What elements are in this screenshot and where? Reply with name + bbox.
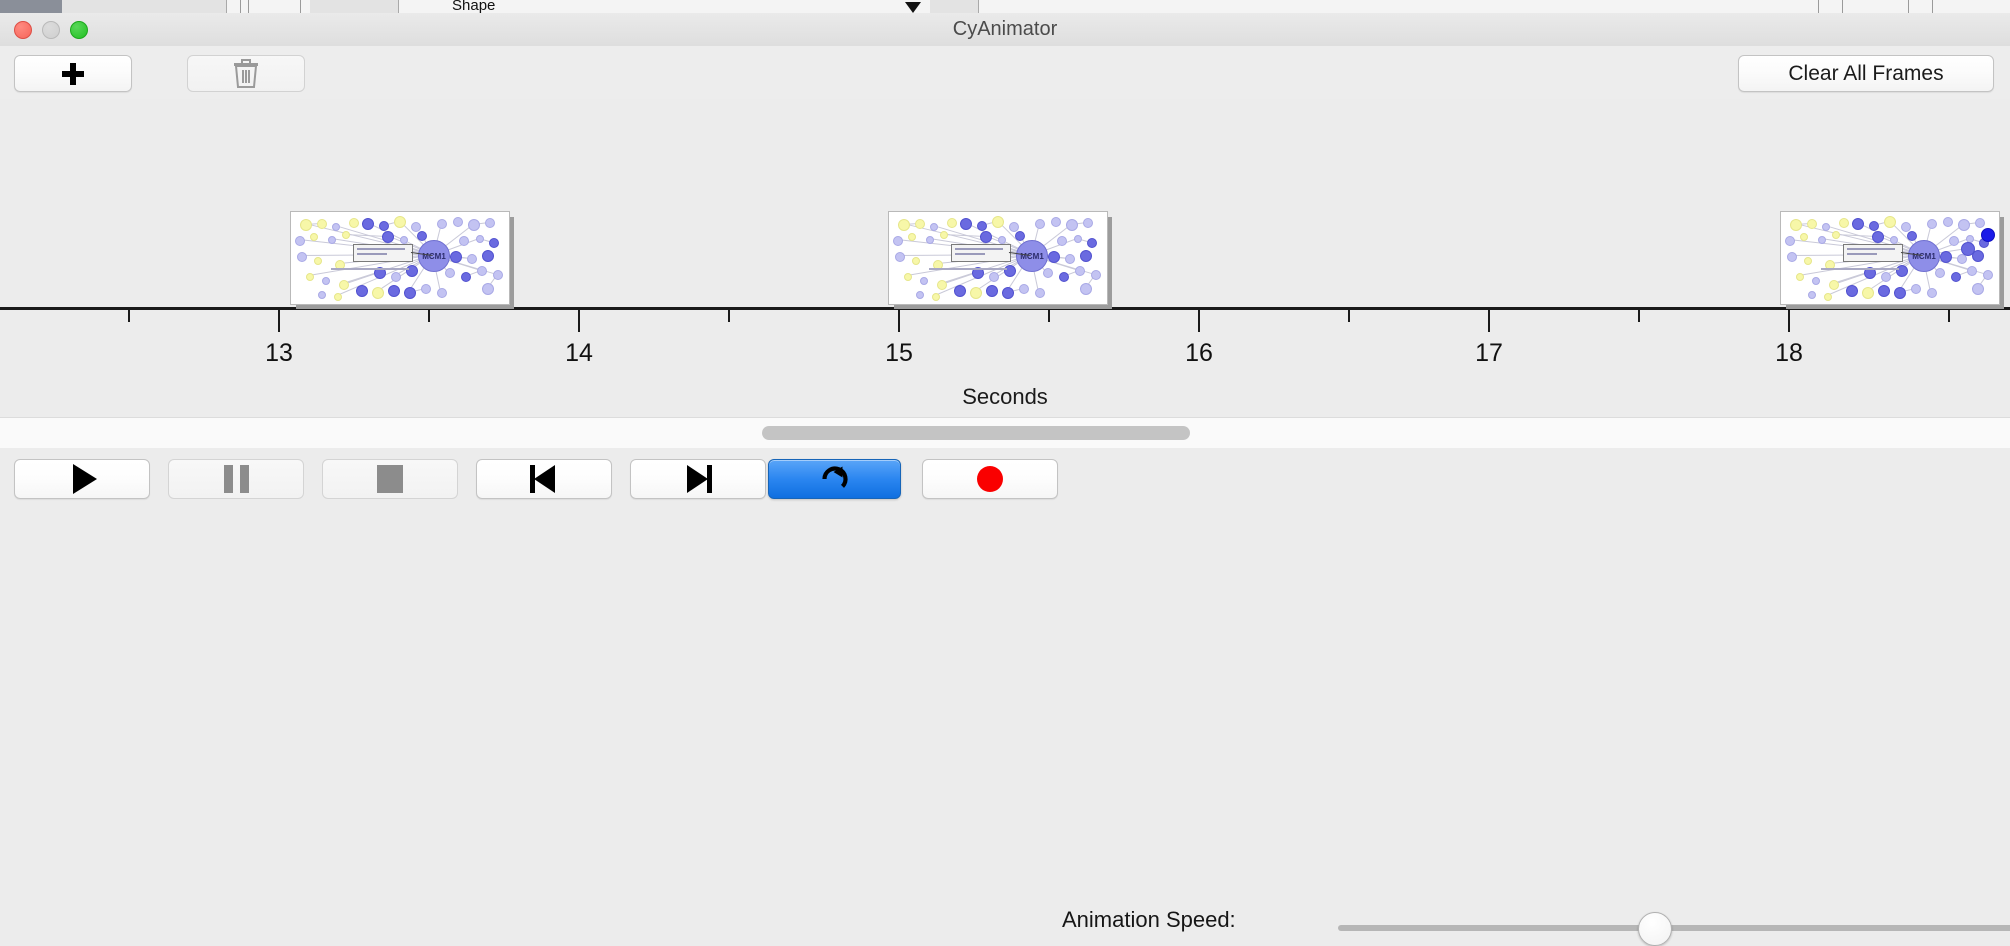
network-node	[1796, 273, 1804, 281]
network-node	[1035, 288, 1045, 298]
network-node	[916, 291, 924, 299]
network-node	[1927, 219, 1937, 229]
network-node	[1911, 284, 1921, 294]
network-node	[1872, 231, 1884, 243]
network-node	[332, 223, 340, 231]
network-node	[1804, 257, 1812, 265]
background-window-grip	[1908, 0, 1909, 13]
axis-tick-label: 15	[885, 339, 913, 368]
network-node	[1846, 285, 1858, 297]
skip-to-start-icon	[530, 465, 558, 493]
background-window-grip	[1932, 0, 1933, 13]
network-node	[400, 236, 408, 244]
clear-all-frames-label: Clear All Frames	[1788, 62, 1943, 86]
network-node	[930, 223, 938, 231]
network-node	[1035, 219, 1045, 229]
network-node	[986, 285, 998, 297]
network-node	[477, 266, 487, 276]
minimize-button[interactable]	[42, 21, 60, 39]
background-window-grip	[300, 0, 301, 13]
network-node	[989, 272, 999, 282]
network-node	[1943, 217, 1953, 227]
clear-all-frames-button[interactable]: Clear All Frames	[1738, 55, 1994, 92]
background-window-segment	[62, 0, 171, 13]
network-caption-text	[331, 268, 409, 270]
timeline-scrollbar-thumb[interactable]	[762, 426, 1190, 440]
network-node	[1884, 216, 1896, 228]
background-window-strip: Shape	[0, 0, 2010, 14]
network-node	[1087, 238, 1097, 248]
network-node	[932, 293, 940, 301]
network-node	[1057, 236, 1067, 246]
network-node	[1808, 291, 1816, 299]
network-node	[960, 218, 972, 230]
timeline-frame-thumbnail[interactable]: MCM1	[1780, 211, 2000, 305]
timeline-scrollbar[interactable]	[0, 417, 2010, 449]
axis-tick	[578, 310, 580, 332]
timeline-frame-thumbnail[interactable]: MCM1	[290, 211, 510, 305]
network-node	[300, 219, 312, 231]
page-title: CyAnimator	[0, 13, 2010, 46]
network-node	[915, 219, 925, 229]
network-node	[391, 272, 401, 282]
network-node	[1896, 265, 1908, 277]
animation-speed-label: Animation Speed:	[1062, 907, 1236, 933]
axis-tick	[1788, 310, 1790, 332]
timeline-frame[interactable]: MCM1	[290, 211, 514, 309]
network-node	[1051, 217, 1061, 227]
network-node	[893, 236, 903, 246]
timeline-frame-thumbnail[interactable]: MCM1	[888, 211, 1108, 305]
network-node	[1002, 287, 1014, 299]
network-node	[980, 231, 992, 243]
network-node	[1800, 233, 1808, 241]
network-edge	[345, 234, 387, 237]
network-node	[1983, 270, 1993, 280]
network-annotation-text	[1847, 248, 1895, 250]
network-node	[328, 236, 336, 244]
network-node	[362, 218, 374, 230]
network-hub-node: MCM1	[418, 240, 450, 272]
animation-speed-slider-thumb[interactable]	[1638, 912, 1672, 946]
play-icon	[73, 464, 97, 494]
network-node	[1862, 287, 1874, 299]
background-window-segment	[310, 0, 399, 13]
network-node	[1785, 236, 1795, 246]
network-node	[937, 280, 947, 290]
network-node	[437, 288, 447, 298]
network-node	[940, 231, 948, 239]
network-node	[372, 287, 384, 299]
network-node	[904, 273, 912, 281]
network-node	[306, 273, 314, 281]
network-node	[1927, 288, 1937, 298]
network-node	[920, 277, 928, 285]
window-controls	[14, 21, 88, 39]
network-node	[482, 283, 494, 295]
axis-tick-label: 16	[1185, 339, 1213, 368]
network-node	[1080, 283, 1092, 295]
network-node	[322, 277, 330, 285]
record-button[interactable]	[922, 459, 1058, 499]
axis-tick	[728, 310, 730, 322]
network-node	[437, 219, 447, 229]
network-node	[388, 285, 400, 297]
network-node	[1080, 250, 1092, 262]
trash-icon	[233, 59, 259, 89]
background-window-segment	[170, 0, 227, 13]
axis-tick-label: 13	[265, 339, 293, 368]
network-node	[1091, 270, 1101, 280]
background-window-segment	[930, 0, 979, 13]
network-node	[1975, 218, 1985, 228]
pause-icon	[224, 465, 249, 493]
network-node	[1940, 251, 1952, 263]
background-window-grip	[1842, 0, 1843, 13]
player-controls-bar: Animation Speed:	[0, 448, 2010, 510]
network-node	[898, 219, 910, 231]
network-node	[318, 291, 326, 299]
network-node	[1065, 254, 1075, 264]
network-node	[992, 216, 1004, 228]
axis-tick	[1198, 310, 1200, 332]
close-button[interactable]	[14, 21, 32, 39]
network-hub-node: MCM1	[1908, 240, 1940, 272]
network-node	[1048, 251, 1060, 263]
network-node	[445, 268, 455, 278]
network-hub-node: MCM1	[1016, 240, 1048, 272]
network-node	[1967, 266, 1977, 276]
axis-tick	[1948, 310, 1950, 322]
network-node	[406, 265, 418, 277]
stop-icon	[377, 465, 403, 493]
network-node	[334, 293, 342, 301]
network-node	[310, 233, 318, 241]
network-node	[1972, 283, 1984, 295]
axis-tick-label: 14	[565, 339, 593, 368]
network-node	[926, 236, 934, 244]
network-annotation-text	[955, 248, 1003, 250]
network-node	[349, 218, 359, 228]
stop-button[interactable]	[322, 459, 458, 499]
network-node	[314, 257, 322, 265]
network-node	[339, 280, 349, 290]
network-node	[1824, 293, 1832, 301]
timeline-frame[interactable]: MCM1	[1780, 211, 2004, 309]
axis-tick	[1638, 310, 1640, 322]
plus-icon	[62, 63, 84, 85]
network-node	[1869, 221, 1879, 231]
axis-tick	[128, 310, 130, 322]
network-node	[1852, 218, 1864, 230]
network-node	[317, 219, 327, 229]
maximize-button[interactable]	[70, 21, 88, 39]
network-node	[453, 217, 463, 227]
background-window-grip	[240, 0, 241, 13]
timeline-frame[interactable]: MCM1	[888, 211, 1112, 309]
loop-icon	[818, 462, 852, 496]
network-node	[342, 231, 350, 239]
axis-tick-label: 18	[1775, 339, 1803, 368]
network-annotation-text	[955, 253, 985, 255]
network-edge	[1835, 234, 1877, 237]
network-node	[1981, 228, 1995, 242]
network-node	[404, 287, 416, 299]
network-node	[1839, 218, 1849, 228]
network-node	[476, 235, 484, 243]
skip-to-start-button[interactable]	[476, 459, 612, 499]
network-node	[908, 233, 916, 241]
network-caption-text	[929, 268, 1007, 270]
network-node	[1812, 277, 1820, 285]
network-node	[421, 284, 431, 294]
network-node	[295, 236, 305, 246]
network-node	[489, 238, 499, 248]
network-node	[998, 236, 1006, 244]
network-node	[1890, 236, 1898, 244]
network-node	[1075, 266, 1085, 276]
network-node	[1822, 223, 1830, 231]
network-node	[1083, 218, 1093, 228]
network-node	[977, 221, 987, 231]
network-node	[382, 231, 394, 243]
network-edge	[943, 234, 985, 237]
network-node	[461, 272, 471, 282]
network-annotation-text	[1847, 253, 1877, 255]
background-window-sidebar	[0, 0, 62, 13]
background-window-grip	[248, 0, 249, 13]
network-node	[954, 285, 966, 297]
network-node	[1881, 272, 1891, 282]
axis-tick	[1348, 310, 1350, 322]
animation-speed-slider[interactable]	[1338, 925, 2010, 931]
network-node	[1958, 219, 1970, 231]
add-frame-button[interactable]	[14, 55, 132, 92]
network-node	[1015, 231, 1025, 241]
network-node	[485, 218, 495, 228]
axis-tick	[1488, 310, 1490, 332]
network-caption-text	[1821, 268, 1899, 270]
network-node	[1807, 219, 1817, 229]
axis-title: Seconds	[0, 384, 2010, 410]
network-annotation-text	[357, 253, 387, 255]
network-node	[1790, 219, 1802, 231]
loop-button[interactable]	[768, 459, 901, 499]
network-node	[1004, 265, 1016, 277]
network-node	[1787, 252, 1797, 262]
axis-tick	[898, 310, 900, 332]
network-node	[1043, 268, 1053, 278]
network-node	[379, 221, 389, 231]
network-node	[394, 216, 406, 228]
background-window-marker-icon	[905, 2, 921, 13]
network-node	[467, 254, 477, 264]
network-node	[297, 252, 307, 262]
network-node	[493, 270, 503, 280]
network-annotation-box	[353, 244, 413, 262]
frame-toolbar: Clear All Frames	[0, 46, 2010, 100]
network-node	[1951, 272, 1961, 282]
network-node	[1935, 268, 1945, 278]
skip-to-end-button[interactable]	[630, 459, 766, 499]
network-node	[947, 218, 957, 228]
network-node	[1019, 284, 1029, 294]
background-window-grip	[1818, 0, 1819, 13]
network-node	[912, 257, 920, 265]
network-node	[482, 250, 494, 262]
network-node	[1949, 236, 1959, 246]
network-node	[459, 236, 469, 246]
network-node	[895, 252, 905, 262]
network-node	[356, 285, 368, 297]
timeline-panel[interactable]: 12131415161718 MCM1MCM1MCM1 Seconds	[0, 99, 2010, 417]
network-node	[970, 287, 982, 299]
record-icon	[977, 466, 1003, 492]
axis-tick	[428, 310, 430, 322]
network-node	[1894, 287, 1906, 299]
network-node	[1059, 272, 1069, 282]
network-annotation-text	[357, 248, 405, 250]
network-node	[1829, 280, 1839, 290]
network-node	[1074, 235, 1082, 243]
delete-frame-button[interactable]	[187, 55, 305, 92]
network-node	[1878, 285, 1890, 297]
pause-button[interactable]	[168, 459, 304, 499]
play-button[interactable]	[14, 459, 150, 499]
network-node	[468, 219, 480, 231]
network-node	[417, 231, 427, 241]
network-annotation-box	[1843, 244, 1903, 262]
network-node	[450, 251, 462, 263]
network-node	[1066, 219, 1078, 231]
network-node	[1961, 242, 1975, 256]
network-node	[1907, 231, 1917, 241]
axis-tick	[278, 310, 280, 332]
skip-to-end-icon	[684, 465, 712, 493]
window-titlebar[interactable]: CyAnimator	[0, 13, 2010, 47]
network-node	[1818, 236, 1826, 244]
network-annotation-box	[951, 244, 1011, 262]
network-node	[1832, 231, 1840, 239]
background-window-shape-label: Shape	[452, 0, 495, 14]
axis-tick-label: 17	[1475, 339, 1503, 368]
axis-tick	[1048, 310, 1050, 322]
